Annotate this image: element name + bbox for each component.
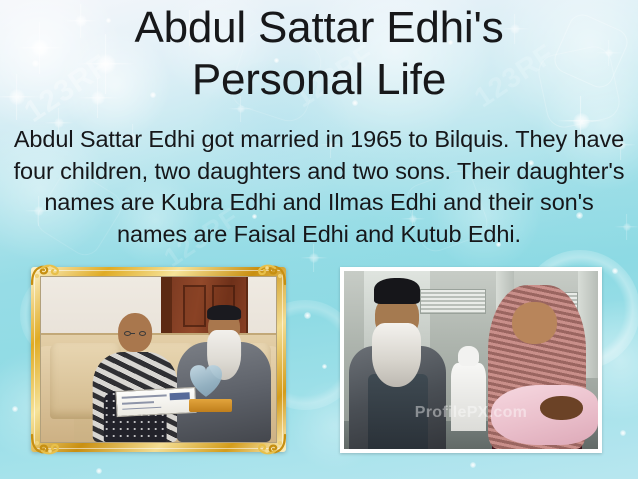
slide-title: Abdul Sattar Edhi's Personal Life [0, 2, 638, 106]
sparkle-dot [470, 462, 476, 468]
trophy-base [189, 399, 232, 412]
photo-infant [491, 385, 598, 446]
slide-title-line2: Personal Life [0, 54, 638, 106]
trophy-heart-shape [182, 363, 238, 400]
photo-trophy [182, 363, 238, 413]
sparkle-dot [304, 312, 311, 319]
person-cap [207, 305, 241, 320]
person-beard [372, 323, 421, 388]
photo-person-man [349, 278, 446, 449]
sparkle-dot [620, 430, 626, 436]
person-cap [374, 278, 420, 304]
photo-person-woman [93, 313, 178, 442]
right-photo-frame: ProfilePX.com [340, 267, 602, 453]
sparkle-dot [12, 406, 18, 412]
left-photo [40, 276, 277, 443]
left-photo-frame [31, 267, 286, 452]
right-photo: ProfilePX.com [344, 271, 598, 449]
glasses-icon [124, 331, 146, 337]
presentation-slide: 123RF 123RF 123RF 123RF 123RF Abdul Satt… [0, 0, 638, 479]
nurse-head [458, 346, 479, 367]
slide-body-text: Abdul Sattar Edhi got married in 1965 to… [12, 124, 626, 250]
sparkle-dot [96, 468, 102, 474]
slide-title-line1: Abdul Sattar Edhi's [0, 2, 638, 54]
person-head [512, 302, 557, 345]
sparkle-dot [322, 364, 327, 369]
sparkle-dot [612, 268, 618, 274]
